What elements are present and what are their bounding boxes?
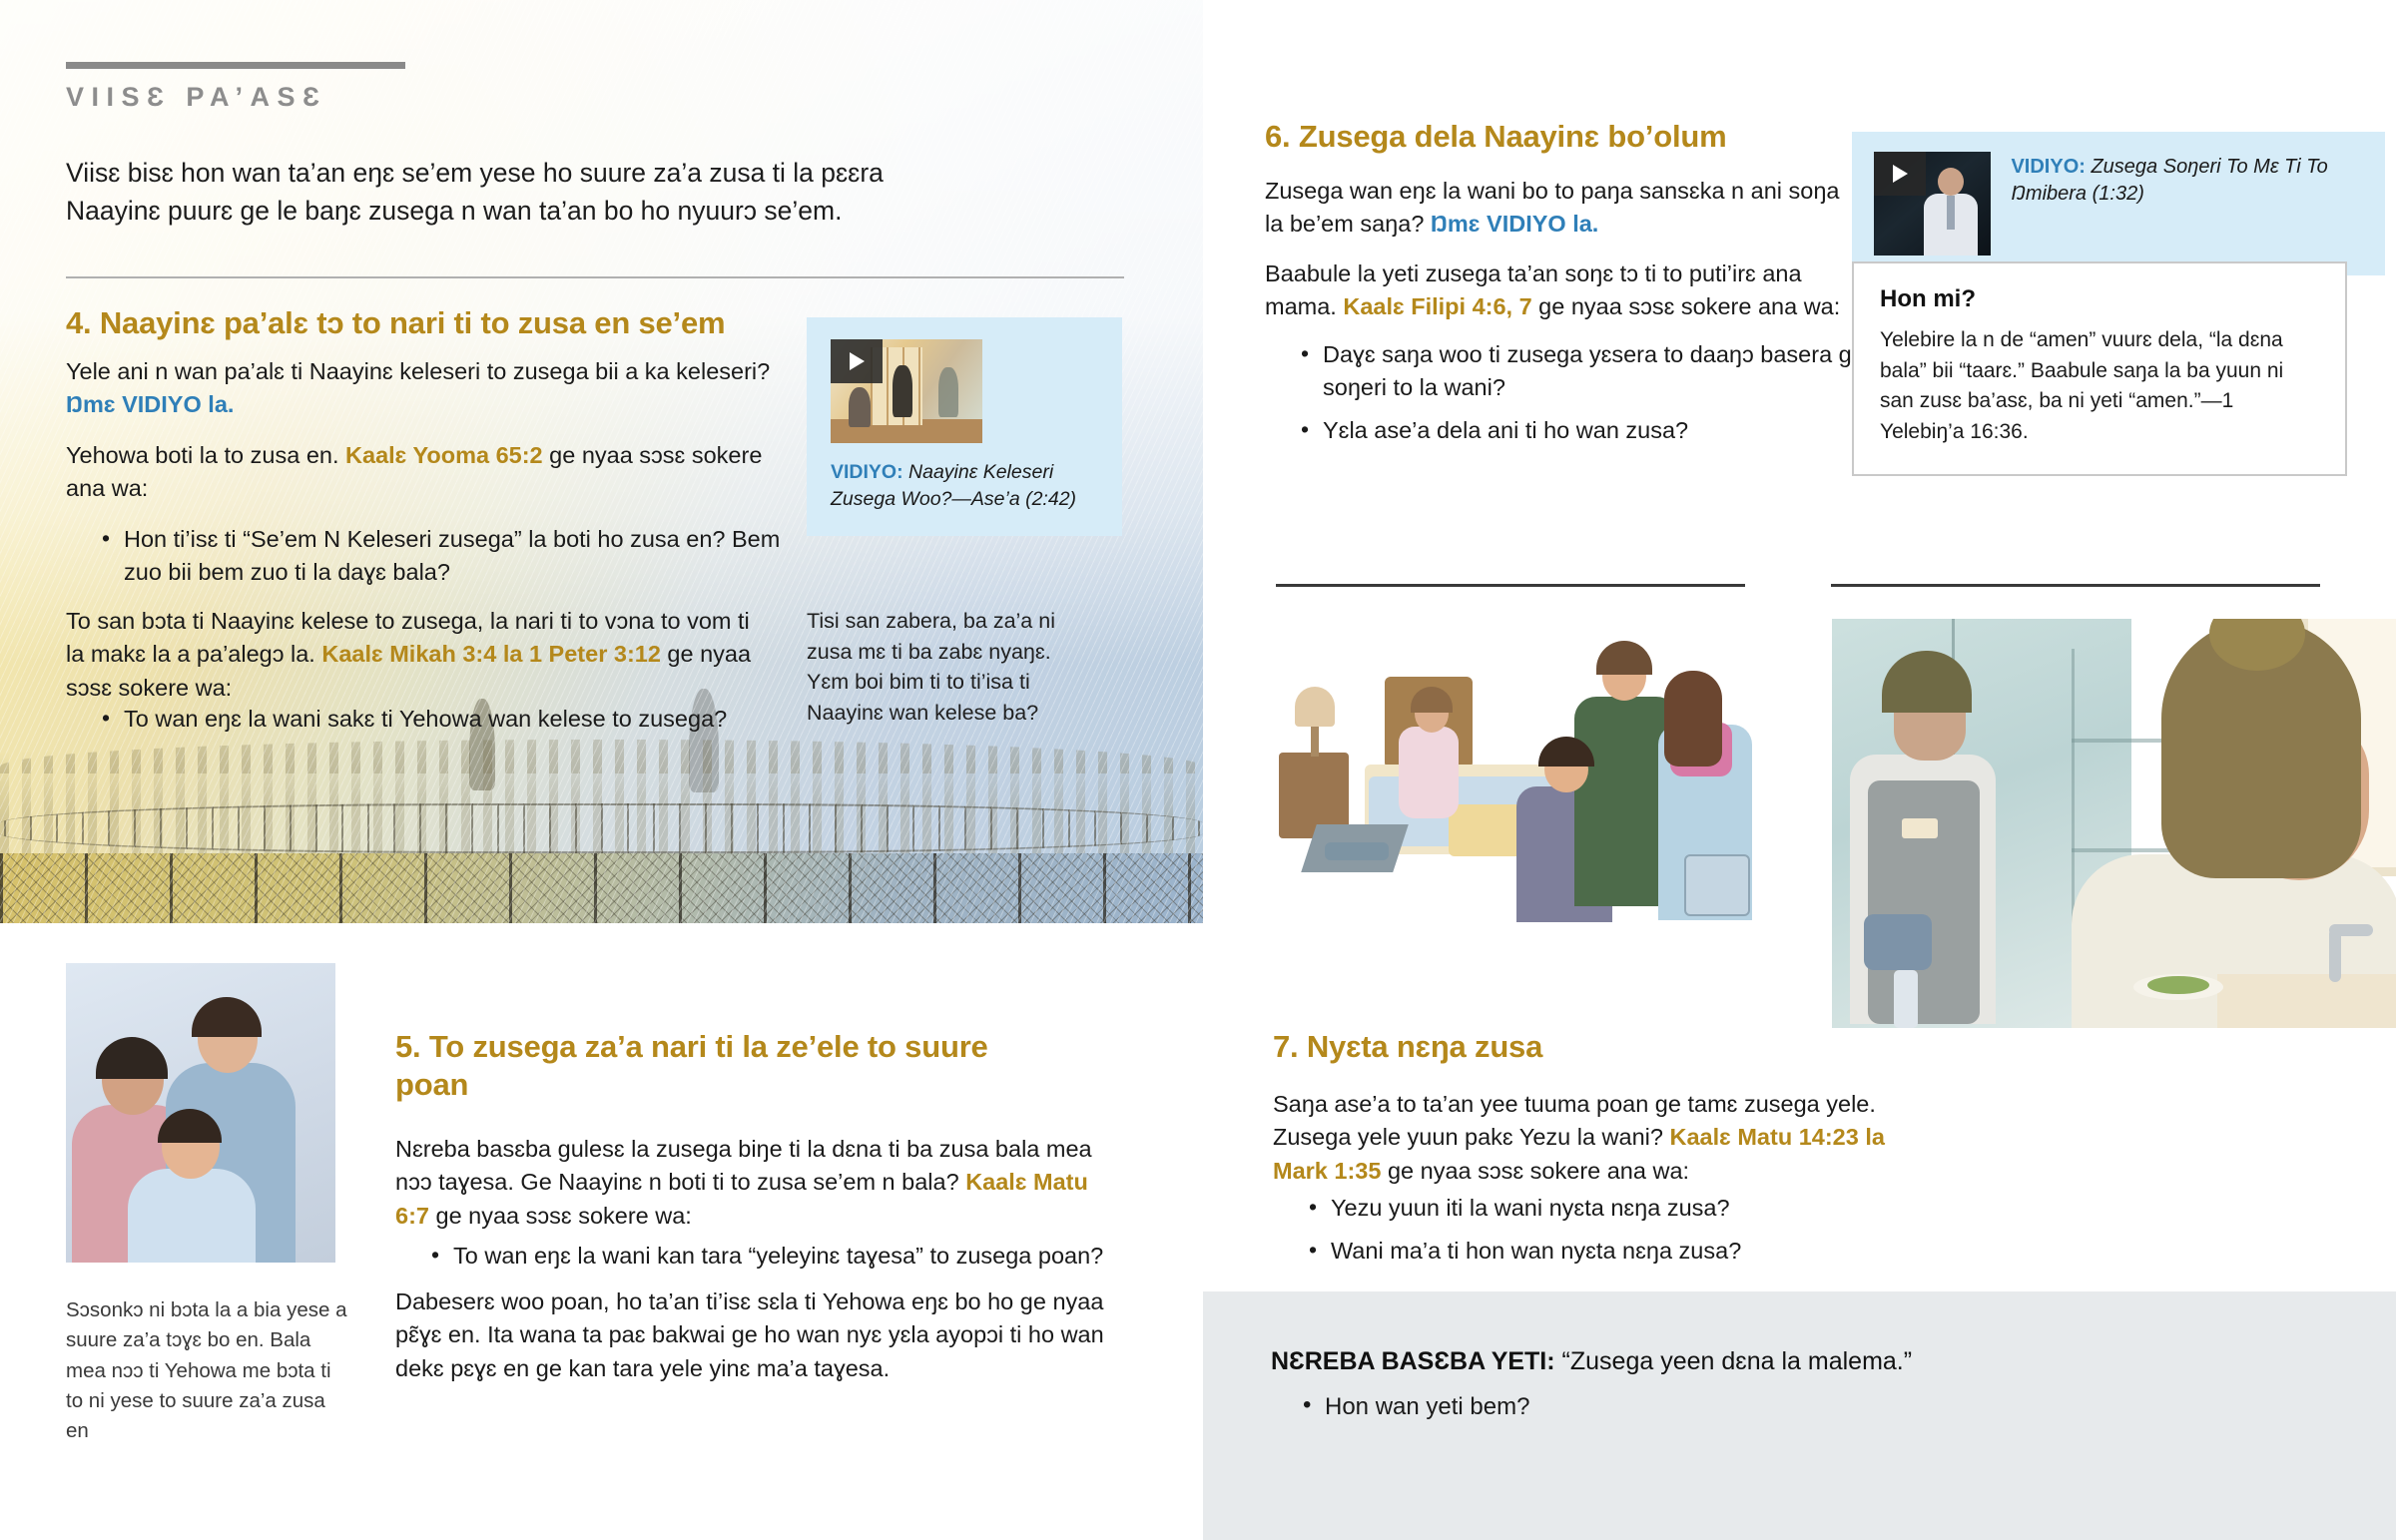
video-card-1[interactable]: VIDIYO: Naayinɛ Keleseri Zusega Woo?—Ase… — [807, 317, 1122, 536]
others-say-label: NƐREBA BASƐBA YETI: — [1271, 1347, 1555, 1375]
did-you-know-box: Hon mi? Yelebire la n de “amen” vuurɛ de… — [1852, 261, 2347, 476]
section-7-heading: 7. Nyɛta nɛŋa zusa — [1273, 1028, 1872, 1066]
list-item: Yezu yuun iti la wani nyɛta nɛŋa zusa? — [1309, 1192, 1948, 1225]
cleaner-name-badge — [1902, 818, 1938, 838]
intro-paragraph: Viisɛ bisɛ hon wan ta’an eŋɛ se’em yese … — [66, 155, 944, 230]
cleaning-cloth — [1864, 914, 1932, 970]
thumbnail-person-background — [938, 367, 958, 417]
list-item: Yɛla ase’a dela ani ti ho wan zusa? — [1301, 414, 1900, 447]
list-item: Hon ti’isɛ ti “Se’em N Keleseri zusega” … — [102, 523, 821, 589]
others-say-question-list: Hon wan yeti bem? — [1271, 1390, 2229, 1424]
section-5-paragraph-1: Nɛreba basɛba gulesɛ la zusega biŋe ti l… — [395, 1133, 1114, 1233]
hug-mother-hair — [1596, 641, 1652, 675]
video-label-1: VIDIYO: — [831, 461, 903, 483]
thumbnail-person-praying — [893, 365, 912, 417]
play-icon[interactable] — [831, 339, 883, 383]
section-6-paragraph-1: Zusega wan eŋɛ la wani bo to paŋa sansɛk… — [1265, 175, 1854, 242]
others-say-band: NƐREBA BASƐBA YETI: “Zusega yeen dɛna la… — [1203, 1291, 2396, 1540]
list-item: To wan eŋɛ la wani sakɛ ti Yehowa wan ke… — [102, 703, 841, 736]
list-item: To wan eŋɛ la wani kan tara “yeleyinɛ ta… — [431, 1240, 1170, 1273]
video-label-2: VIDIYO: — [2011, 156, 2085, 178]
infobox-body: Yelebire la n de “amen” vuurɛ dela, “la … — [1880, 325, 2319, 448]
section-divider — [66, 276, 1124, 278]
video-caption-1: VIDIYO: Naayinɛ Keleseri Zusega Woo?—Ase… — [831, 459, 1098, 512]
bedroom-woman-body — [1399, 727, 1459, 818]
infobox-heading: Hon mi? — [1880, 285, 2319, 313]
play-icon[interactable] — [1874, 152, 1926, 196]
section-5-p1-text-b: ge nyaa sɔsɛ sokere wa: — [429, 1203, 692, 1229]
hug-suitcase — [1684, 854, 1750, 916]
section-5-heading: 5. To zusega za’a nari ti la ze’ele to s… — [395, 1028, 1054, 1104]
video-thumbnail-1[interactable] — [831, 339, 982, 443]
scripture-ref-yooma[interactable]: Kaalɛ Yooma 65:2 — [345, 442, 543, 468]
family-photo — [66, 963, 335, 1263]
section-4-paragraph-1: Yele ani n wan pa’alɛ ti Naayinɛ keleser… — [66, 355, 805, 422]
illustration-collage — [1273, 619, 2396, 1028]
photo-child-body — [128, 1169, 256, 1263]
section-4-paragraph-2: Yehowa boti la to zusa en. Kaalɛ Yooma 6… — [66, 439, 765, 506]
pull-quote-note: Tisi san zabera, ba za’a ni zusa mɛ ti b… — [807, 606, 1076, 728]
lamp-stem — [1311, 725, 1319, 757]
others-say-quote: “Zusega yeen dɛna la malema.” — [1562, 1347, 1913, 1375]
list-item: Daɣɛ saŋa woo ti zusega yɛsera to daaŋɔ … — [1301, 338, 1900, 404]
kitchen-salad — [2147, 976, 2209, 994]
thumbnail-person-seated — [849, 387, 871, 427]
section-4-question-list-1: Hon ti’isɛ ti “Se’em N Keleseri zusega” … — [66, 523, 821, 599]
section-4-p1-text: Yele ani n wan pa’alɛ ti Naayinɛ keleser… — [66, 358, 770, 384]
video-link-1[interactable]: Ŋmɛ VIDIYO la. — [66, 391, 234, 417]
section-5-paragraph-2: Dabeserɛ woo poan, ho ta’an ti’isɛ sɛla … — [395, 1285, 1114, 1385]
section-4-heading: 4. Naayinɛ pa’alɛ tɔ to nari ti to zusa … — [66, 304, 865, 342]
kitchen-counter — [2217, 974, 2396, 1028]
section-5-question-list: To wan eŋɛ la wani kan tara “yeleyinɛ ta… — [395, 1240, 1170, 1283]
section-7-question-list: Yezu yuun iti la wani nyɛta nɛŋa zusa? W… — [1273, 1192, 1948, 1278]
scripture-ref-mikah[interactable]: Kaalɛ Mikah 3:4 la 1 Peter 3:12 — [321, 641, 661, 667]
section-7-paragraph-1: Saŋa ase’a to ta’an yee tuuma poan ge ta… — [1273, 1088, 1912, 1188]
section-7-p1-text-b: ge nyaa sɔsɛ sokere ana wa: — [1381, 1158, 1689, 1184]
section-4-p2-text-a: Yehowa boti la to zusa en. — [66, 442, 345, 468]
others-say-title: NƐREBA BASƐBA YETI: “Zusega yeen dɛna la… — [1271, 1347, 2229, 1376]
kicker-rule — [66, 62, 405, 69]
section-6-p2-text-b: ge nyaa sɔsɛ sokere ana wa: — [1532, 293, 1841, 319]
cleaner-apron — [1868, 780, 1980, 1024]
thumbnail-man-head — [1938, 168, 1964, 196]
section-6-question-list: Daɣɛ saŋa woo ti zusega yɛsera to daaŋɔ … — [1265, 338, 1900, 457]
illustration-rule-left — [1276, 584, 1745, 587]
video-thumbnail-2[interactable] — [1874, 152, 1991, 256]
section-6-heading: 6. Zusega dela Naayinɛ bo’olum — [1265, 118, 1864, 156]
photo-father-hair — [96, 1037, 168, 1079]
family-photo-caption: Sɔsonkɔ ni bɔta la a bia yese a suure za… — [66, 1295, 347, 1447]
spray-bottle — [1894, 970, 1918, 1028]
page-kicker: VIISƐ PA’ASƐ — [66, 82, 326, 113]
left-page: VIISƐ PA’ASƐ Viisɛ bisɛ hon wan ta’an eŋ… — [0, 0, 1203, 1540]
scripture-ref-filipi[interactable]: Kaalɛ Filipi 4:6, 7 — [1343, 293, 1531, 319]
list-item: Hon wan yeti bem? — [1303, 1390, 2229, 1424]
video-caption-2: VIDIYO: Zusega Soŋeri To Mɛ Ti To Ŋmiber… — [2011, 154, 2363, 208]
hug-girl-hair — [1664, 671, 1722, 767]
section-4-paragraph-3: To san bɔta ti Naayinɛ kelese to zusega,… — [66, 605, 765, 705]
video-card-2[interactable]: VIDIYO: Zusega Soŋeri To Mɛ Ti To Ŋmiber… — [1852, 132, 2385, 275]
video-link-2[interactable]: Ŋmɛ VIDIYO la. — [1431, 211, 1598, 237]
bedroom-slippers — [1325, 842, 1389, 860]
illustration-rule-right — [1831, 584, 2320, 587]
photo-mother-hair — [192, 997, 262, 1037]
list-item: Wani ma’a ti hon wan nyɛta nɛŋa zusa? — [1309, 1235, 1948, 1268]
section-6-paragraph-2: Baabule la yeti zusega ta’an soŋɛ tɔ ti … — [1265, 257, 1854, 324]
lamp-shade — [1295, 687, 1335, 727]
kitchen-faucet-stem — [2329, 928, 2341, 982]
thumbnail-man-tie — [1947, 196, 1955, 230]
section-4-question-list-2: To wan eŋɛ la wani sakɛ ti Yehowa wan ke… — [66, 703, 841, 746]
